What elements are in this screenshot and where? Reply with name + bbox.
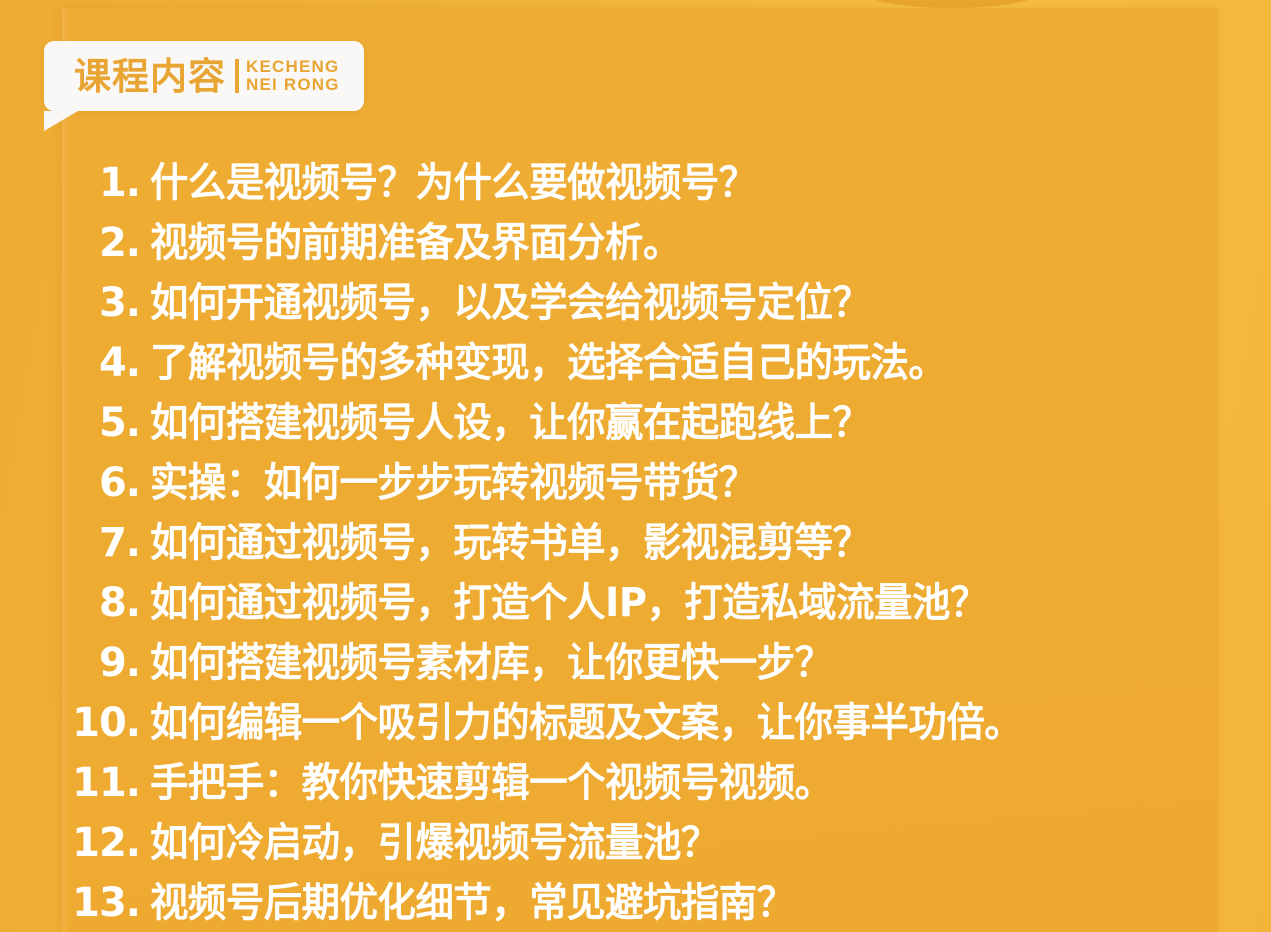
list-item-number: 7. bbox=[62, 520, 150, 566]
list-item-text: 什么是视频号？为什么要做视频号？ bbox=[150, 150, 757, 208]
poster-canvas: 课程内容 KECHENG NEI RONG 1. 什么是视频号？为什么要做视频号… bbox=[0, 0, 1271, 932]
list-item: 13. 视频号后期优化细节，常见避坑指南？ bbox=[62, 870, 1262, 930]
list-item: 7. 如何通过视频号，玩转书单，影视混剪等？ bbox=[62, 510, 1262, 570]
badge-card: 课程内容 KECHENG NEI RONG bbox=[44, 41, 364, 111]
list-item-number: 13. bbox=[62, 880, 150, 926]
list-item-number: 4. bbox=[62, 340, 150, 386]
list-item-text: 视频号的前期准备及界面分析。 bbox=[150, 210, 681, 268]
list-item-number: 3. bbox=[62, 280, 150, 326]
list-item-text: 如何搭建视频号素材库，让你更快一步？ bbox=[150, 630, 833, 688]
list-item: 10. 如何编辑一个吸引力的标题及文案，让你事半功倍。 bbox=[62, 690, 1262, 750]
list-item-number: 9. bbox=[62, 640, 150, 686]
list-item-number: 6. bbox=[62, 460, 150, 506]
list-item: 1. 什么是视频号？为什么要做视频号？ bbox=[62, 150, 1262, 210]
badge-pinyin-line-2: NEI RONG bbox=[246, 76, 340, 94]
badge-title: 课程内容 bbox=[74, 58, 226, 95]
list-item-text: 如何通过视频号，玩转书单，影视混剪等？ bbox=[150, 510, 870, 568]
list-item-text: 视频号后期优化细节，常见避坑指南？ bbox=[150, 870, 795, 928]
list-item-text: 如何搭建视频号人设，让你赢在起跑线上？ bbox=[150, 390, 870, 448]
badge-pinyin-block: KECHENG NEI RONG bbox=[246, 58, 340, 94]
list-item-number: 10. bbox=[62, 700, 150, 746]
list-item-text: 如何冷启动，引爆视频号流量池？ bbox=[150, 810, 719, 868]
list-item: 8. 如何通过视频号，打造个人IP，打造私域流量池？ bbox=[62, 570, 1262, 630]
list-item-number: 5. bbox=[62, 400, 150, 446]
section-header-badge: 课程内容 KECHENG NEI RONG bbox=[44, 41, 364, 111]
list-item-number: 8. bbox=[62, 580, 150, 626]
list-item: 11. 手把手：教你快速剪辑一个视频号视频。 bbox=[62, 750, 1262, 810]
list-item-number: 1. bbox=[62, 160, 150, 206]
badge-pinyin-line-1: KECHENG bbox=[246, 58, 340, 76]
list-item-text: 手把手：教你快速剪辑一个视频号视频。 bbox=[150, 750, 833, 808]
course-content-list: 1. 什么是视频号？为什么要做视频号？ 2. 视频号的前期准备及界面分析。 3.… bbox=[62, 150, 1262, 930]
list-item-number: 11. bbox=[62, 760, 150, 806]
list-item-number: 2. bbox=[62, 220, 150, 266]
list-item: 9. 如何搭建视频号素材库，让你更快一步？ bbox=[62, 630, 1262, 690]
list-item: 12. 如何冷启动，引爆视频号流量池？ bbox=[62, 810, 1262, 870]
list-item: 2. 视频号的前期准备及界面分析。 bbox=[62, 210, 1262, 270]
list-item-number: 12. bbox=[62, 820, 150, 866]
list-item: 4. 了解视频号的多种变现，选择合适自己的玩法。 bbox=[62, 330, 1262, 390]
badge-divider bbox=[235, 59, 239, 93]
list-item-text: 如何开通视频号，以及学会给视频号定位？ bbox=[150, 270, 870, 328]
list-item: 6. 实操：如何一步步玩转视频号带货？ bbox=[62, 450, 1262, 510]
top-decorative-ellipse bbox=[862, 0, 1042, 8]
list-item-text: 如何通过视频号，打造个人IP，打造私域流量池？ bbox=[150, 570, 988, 628]
list-item: 3. 如何开通视频号，以及学会给视频号定位？ bbox=[62, 270, 1262, 330]
list-item: 5. 如何搭建视频号人设，让你赢在起跑线上？ bbox=[62, 390, 1262, 450]
list-item-text: 实操：如何一步步玩转视频号带货？ bbox=[150, 450, 757, 508]
list-item-text: 如何编辑一个吸引力的标题及文案，让你事半功倍。 bbox=[150, 690, 1022, 748]
list-item-text: 了解视频号的多种变现，选择合适自己的玩法。 bbox=[150, 330, 946, 388]
badge-tail bbox=[44, 111, 78, 131]
